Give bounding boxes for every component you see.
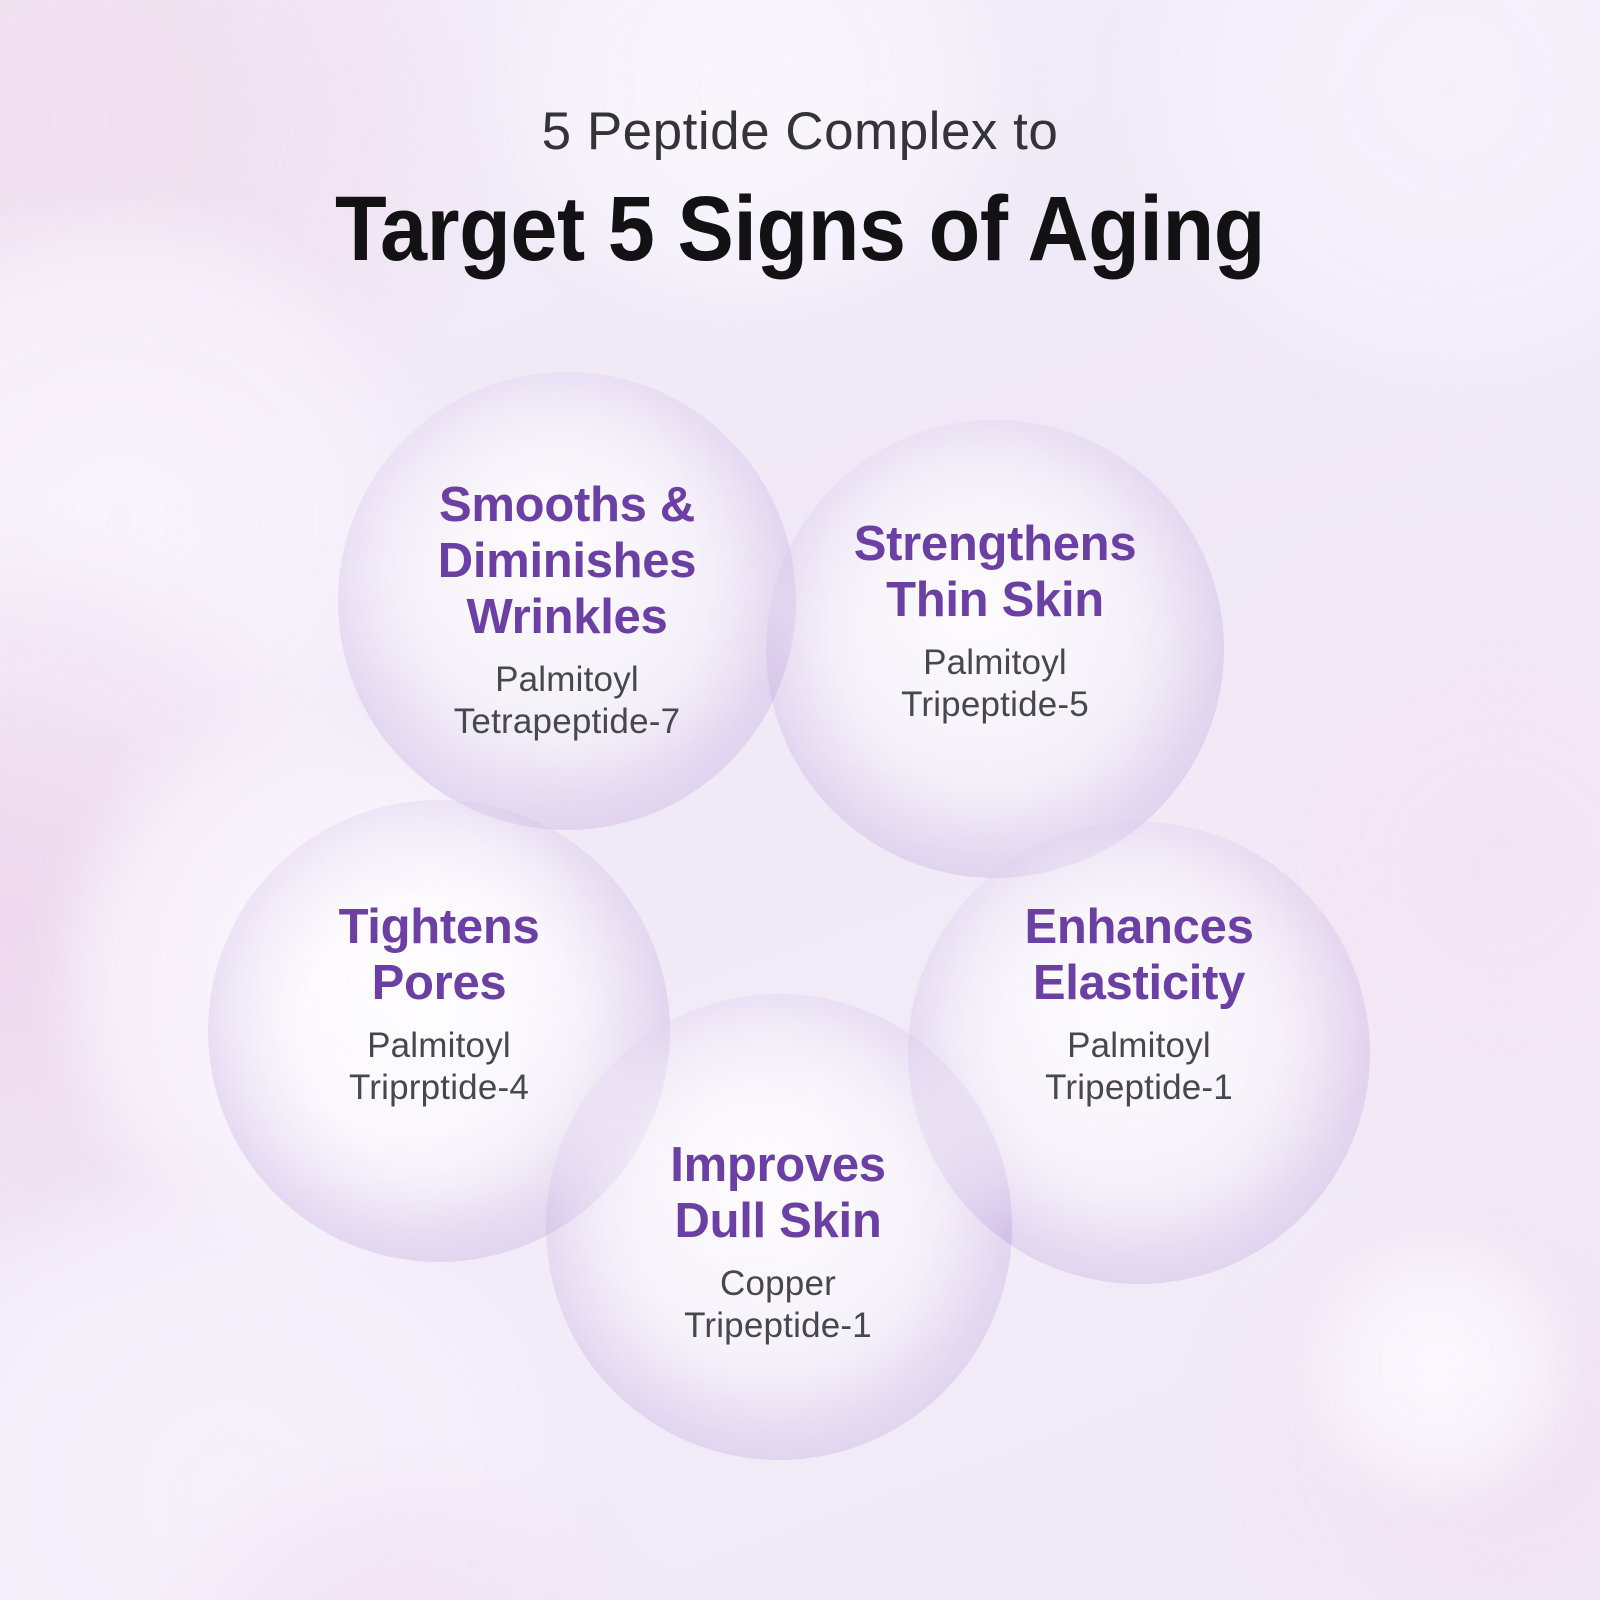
label-improves-dull-skin: ImprovesDull Skin CopperTripeptide-1 bbox=[548, 1138, 1008, 1348]
bubble-title: EnhancesElasticity bbox=[909, 900, 1369, 1012]
bubble-ingredient: PalmitoylTetrapeptide-7 bbox=[337, 659, 797, 744]
label-smooths-diminishes-wrinkles: Smooths &DiminishesWrinkles PalmitoylTet… bbox=[337, 478, 797, 744]
infographic-root: 5 Peptide Complex to Target 5 Signs of A… bbox=[0, 0, 1600, 1600]
label-enhances-elasticity: EnhancesElasticity PalmitoylTripeptide-1 bbox=[909, 900, 1369, 1110]
bubble-ingredient: PalmitoylTripeptide-1 bbox=[909, 1025, 1369, 1110]
bubble-title: StrengthensThin Skin bbox=[765, 517, 1225, 629]
label-tightens-pores: TightensPores PalmitoylTriprptide-4 bbox=[209, 900, 669, 1110]
bubble-title: ImprovesDull Skin bbox=[548, 1138, 1008, 1250]
bubble-label-layer: Smooths &DiminishesWrinkles PalmitoylTet… bbox=[0, 0, 1600, 1600]
label-strengthens-thin-skin: StrengthensThin Skin PalmitoylTripeptide… bbox=[765, 517, 1225, 727]
bubble-title: Smooths &DiminishesWrinkles bbox=[337, 478, 797, 646]
bubble-ingredient: CopperTripeptide-1 bbox=[548, 1263, 1008, 1348]
bubble-ingredient: PalmitoylTriprptide-4 bbox=[209, 1025, 669, 1110]
bubble-ingredient: PalmitoylTripeptide-5 bbox=[765, 642, 1225, 727]
bubble-title: TightensPores bbox=[209, 900, 669, 1012]
